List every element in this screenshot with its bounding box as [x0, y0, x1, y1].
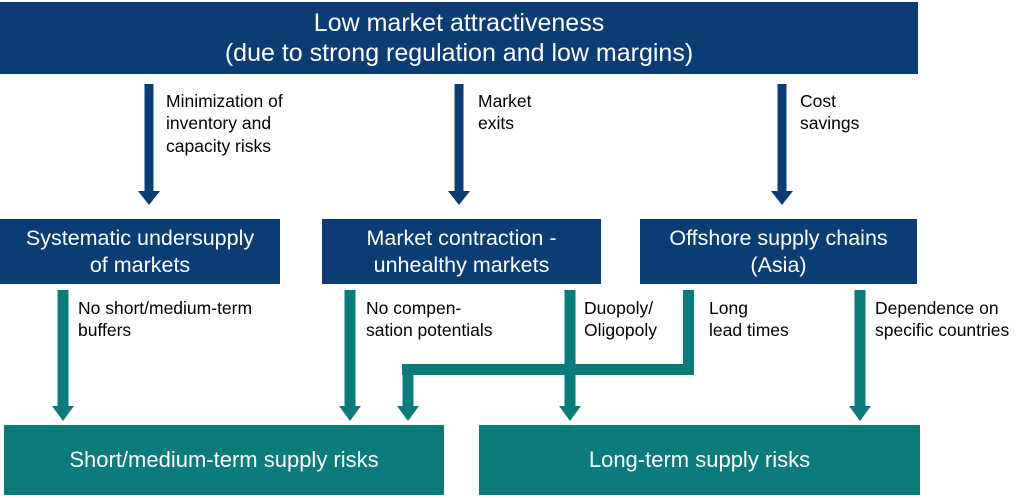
- arrow-no-compensation-potentials: [337, 290, 363, 421]
- arrow-dependence-on-countries: [847, 290, 873, 421]
- arrow-no-buffers: [50, 290, 76, 421]
- arrow-shaft: [778, 84, 787, 191]
- node-offshore-supply-chains: Offshore supply chains (Asia): [640, 219, 917, 284]
- arrow-head-icon: [849, 406, 871, 421]
- node-market-contraction: Market contraction - unhealthy markets: [322, 219, 601, 284]
- edge-label-duopoly-oligopoly: Duopoly/ Oligopoly: [584, 297, 704, 342]
- edge-label-cost-savings: Cost savings: [800, 90, 950, 135]
- arrow-shaft: [455, 84, 464, 191]
- node-low-market-attractiveness: Low market attractiveness (due to strong…: [0, 2, 918, 74]
- arrow-head-icon: [52, 406, 74, 421]
- arrow-head-icon: [559, 406, 581, 421]
- connector-long-lead-times-horizontal: [402, 364, 694, 375]
- node-long-term-supply-risks: Long-term supply risks: [479, 425, 920, 495]
- edge-label-no-compensation-potentials: No compen- sation potentials: [366, 297, 566, 342]
- arrow-elbow-to-short-medium-risks: [395, 366, 421, 421]
- arrow-head-icon: [339, 406, 361, 421]
- edge-label-long-lead-times: Long lead times: [709, 297, 849, 342]
- edge-label-dependence-on-countries: Dependence on specific countries: [875, 297, 1024, 342]
- arrow-market-exits: [447, 84, 471, 205]
- flow-diagram: Low market attractiveness (due to strong…: [0, 0, 1024, 498]
- node-systematic-undersupply: Systematic undersupply of markets: [0, 219, 280, 284]
- arrow-head-icon: [771, 191, 793, 205]
- arrow-head-icon: [138, 191, 160, 205]
- arrow-head-icon: [397, 406, 419, 421]
- arrow-minimization-of-risks: [137, 84, 161, 205]
- edge-label-minimization-of-risks: Minimization of inventory and capacity r…: [166, 90, 316, 157]
- arrow-head-icon: [448, 191, 470, 205]
- arrow-shaft: [403, 366, 414, 406]
- arrow-shaft: [855, 290, 866, 406]
- node-short-medium-term-supply-risks: Short/medium-term supply risks: [4, 425, 444, 495]
- arrow-shaft: [145, 84, 154, 191]
- arrow-cost-savings: [770, 84, 794, 205]
- edge-label-market-exits: Market exits: [478, 90, 618, 135]
- edge-label-no-buffers: No short/medium-term buffers: [78, 297, 288, 342]
- arrow-shaft: [565, 290, 576, 406]
- arrow-shaft: [58, 290, 69, 406]
- arrow-duopoly-oligopoly: [557, 290, 583, 421]
- arrow-shaft: [345, 290, 356, 406]
